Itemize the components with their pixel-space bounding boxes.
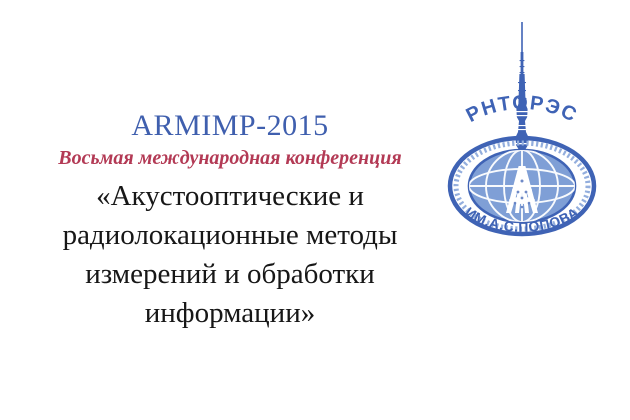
conference-title: «Акустооптические и радиолокационные мет… [0, 177, 460, 333]
conference-subtitle: Восьмая международная конференция [0, 145, 460, 171]
conference-title-line-3: измерений и обработки [0, 255, 460, 294]
conference-title-line-1: «Акустооптические и [0, 177, 460, 216]
conference-text-block: ARMIMP-2015 Восьмая международная конфер… [0, 108, 460, 333]
rntores-popov-emblem: РНТОРЭС ИМ.А.С.ПОПОВА [432, 8, 612, 268]
conference-acronym: ARMIMP-2015 [0, 108, 460, 144]
conference-banner: ARMIMP-2015 Восьмая международная конфер… [0, 0, 630, 420]
conference-title-line-2: радиолокационные методы [0, 216, 460, 255]
conference-title-line-4: информации» [0, 294, 460, 333]
